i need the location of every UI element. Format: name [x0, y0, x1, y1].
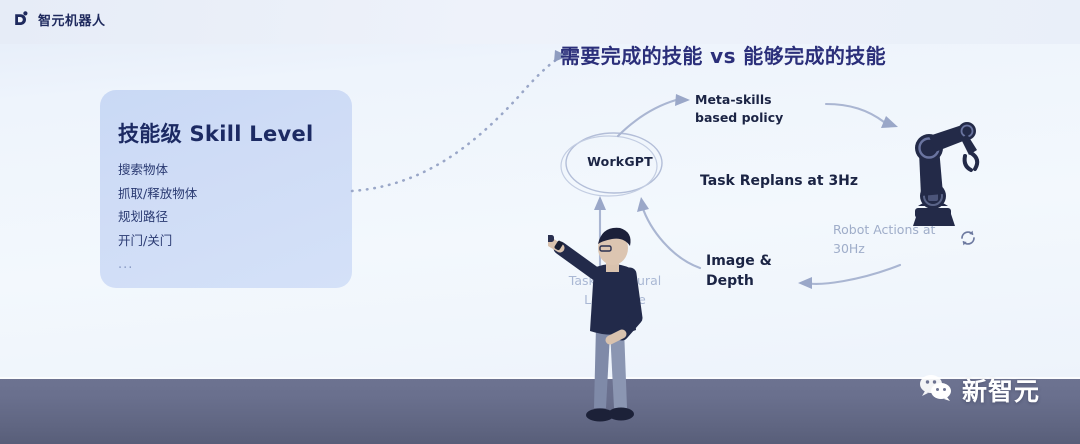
zhiyuan-d-mark-icon	[12, 10, 31, 29]
brand-logo: 智元机器人	[12, 10, 106, 29]
refresh-loop-icon	[958, 228, 978, 248]
skill-item-1: 搜索物体	[118, 164, 352, 177]
watermark: 新智元	[918, 372, 1040, 408]
presenter-figure-icon	[548, 222, 653, 437]
slide-header-band	[0, 0, 1080, 44]
image-depth-label: Image & Depth	[706, 251, 796, 292]
meta-skills-label: Meta-skills based policy	[695, 91, 815, 127]
wechat-icon	[918, 373, 954, 408]
brand-name: 智元机器人	[38, 10, 106, 29]
workgpt-node-label: WorkGPT	[575, 154, 665, 169]
skill-item-ellipsis: ...	[118, 258, 352, 271]
skill-item-4: 开门/关门	[118, 235, 352, 248]
task-replans-label: Task Replans at 3Hz	[700, 173, 858, 189]
robot-arm-icon	[885, 108, 990, 238]
stage-scene: 智元机器人 技能级 Skill Level 搜索物体 抓取/释放物体 规划路径 …	[0, 0, 1080, 444]
skill-item-3: 规划路径	[118, 211, 352, 224]
watermark-text: 新智元	[962, 372, 1040, 408]
slide-headline: 需要完成的技能 vs 能够完成的技能	[560, 40, 886, 69]
skill-level-card: 技能级 Skill Level 搜索物体 抓取/释放物体 规划路径 开门/关门 …	[100, 90, 352, 288]
skill-card-title: 技能级 Skill Level	[118, 118, 352, 148]
presenter-remote-icon	[548, 235, 554, 242]
skill-item-2: 抓取/释放物体	[118, 188, 352, 201]
